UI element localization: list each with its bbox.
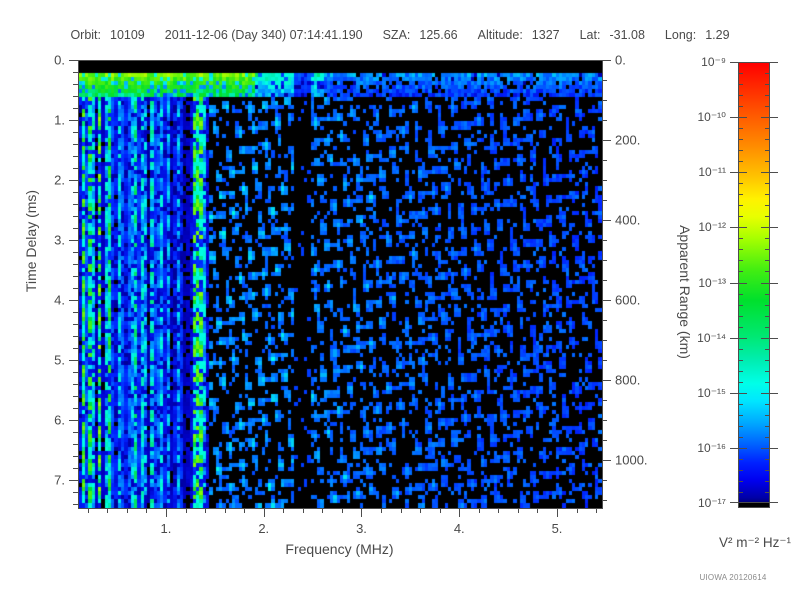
colorbar-tick-minor bbox=[765, 84, 770, 85]
colorbar-tick-minor bbox=[738, 437, 743, 438]
colorbar: 10⁻⁹10⁻¹⁰10⁻¹¹10⁻¹²10⁻¹³10⁻¹⁴10⁻¹⁵10⁻¹⁶1… bbox=[738, 62, 770, 508]
colorbar-tick-outer bbox=[730, 448, 738, 449]
y2-axis-tick-major bbox=[602, 380, 611, 381]
colorbar-tick-minor bbox=[738, 481, 743, 482]
y2-axis-tick-minor bbox=[602, 120, 607, 121]
header-sza-value: 125.66 bbox=[419, 28, 457, 42]
colorbar-tick-minor bbox=[738, 216, 743, 217]
y2-axis-tick-minor bbox=[602, 180, 607, 181]
y-axis-label: 7. bbox=[54, 473, 65, 488]
colorbar-tick-outer bbox=[770, 117, 778, 118]
colorbar-tick-minor bbox=[738, 492, 743, 493]
colorbar-tick-major bbox=[761, 62, 770, 63]
colorbar-tick-outer bbox=[770, 448, 778, 449]
colorbar-tick-minor bbox=[765, 260, 770, 261]
colorbar-tick-minor bbox=[738, 150, 743, 151]
x-axis-tick-minor bbox=[577, 508, 578, 513]
colorbar-tick-minor bbox=[765, 128, 770, 129]
x-axis-tick-major bbox=[264, 508, 265, 517]
x-axis-tick-minor bbox=[322, 508, 323, 513]
colorbar-tick-major bbox=[738, 117, 747, 118]
y-axis-left: 0.1.2.3.4.5.6.7. bbox=[0, 60, 78, 509]
y2-axis-tick-minor bbox=[602, 200, 607, 201]
plot-header: Orbit:101092011-12-06 (Day 340) 07:14:41… bbox=[0, 28, 800, 42]
colorbar-tick-outer bbox=[730, 117, 738, 118]
colorbar-tick-minor bbox=[738, 183, 743, 184]
colorbar-tick-label: 10⁻¹³ bbox=[698, 276, 726, 290]
colorbar-tick-minor bbox=[738, 260, 743, 261]
colorbar-tick-minor bbox=[738, 360, 743, 361]
colorbar-tick-minor bbox=[765, 382, 770, 383]
colorbar-tick-minor bbox=[765, 238, 770, 239]
colorbar-tick-minor bbox=[765, 316, 770, 317]
header-orbit-value: 10109 bbox=[110, 28, 145, 42]
colorbar-tick-outer bbox=[730, 62, 738, 63]
y2-axis-tick-minor bbox=[602, 80, 607, 81]
x-axis-tick-minor bbox=[518, 508, 519, 513]
y2-axis-tick-minor bbox=[602, 280, 607, 281]
colorbar-tick-major bbox=[738, 338, 747, 339]
colorbar-tick-major bbox=[761, 502, 770, 503]
colorbar-tick-minor bbox=[765, 216, 770, 217]
y-axis-tick-minor bbox=[73, 228, 78, 229]
x-axis-tick-minor bbox=[498, 508, 499, 513]
y2-axis-tick-major bbox=[602, 300, 611, 301]
header-long-value: 1.29 bbox=[705, 28, 729, 42]
header-lat-label: Lat: bbox=[580, 28, 601, 42]
colorbar-tick-major bbox=[761, 117, 770, 118]
x-axis-label: 3. bbox=[356, 521, 367, 536]
y-axis-label: 1. bbox=[54, 113, 65, 128]
y-axis-tick-minor bbox=[73, 372, 78, 373]
x-axis-label: 5. bbox=[552, 521, 563, 536]
colorbar-tick-minor bbox=[765, 205, 770, 206]
colorbar-tick-minor bbox=[738, 128, 743, 129]
y-axis-tick-minor bbox=[73, 192, 78, 193]
colorbar-tick-minor bbox=[765, 271, 770, 272]
colorbar-tick-major bbox=[738, 448, 747, 449]
colorbar-tick-minor bbox=[765, 426, 770, 427]
y-axis-right: 0.200.400.600.800.1000. bbox=[602, 60, 672, 509]
x-axis-label: 2. bbox=[258, 521, 269, 536]
y-axis-tick-major bbox=[69, 480, 78, 481]
y-axis-tick-minor bbox=[73, 468, 78, 469]
y2-axis-tick-minor bbox=[602, 440, 607, 441]
y-axis-tick-minor bbox=[73, 144, 78, 145]
header-lat-value: -31.08 bbox=[609, 28, 644, 42]
colorbar-tick-outer bbox=[730, 283, 738, 284]
y2-axis-label: 1000. bbox=[615, 453, 648, 468]
colorbar-tick-minor bbox=[738, 470, 743, 471]
colorbar-tick-outer bbox=[730, 172, 738, 173]
x-axis-label: 4. bbox=[454, 521, 465, 536]
colorbar-tick-minor bbox=[738, 106, 743, 107]
radargram-plot-area bbox=[78, 60, 603, 509]
colorbar-tick-major bbox=[761, 227, 770, 228]
y-axis-tick-minor bbox=[73, 432, 78, 433]
x-axis-label: 1. bbox=[161, 521, 172, 536]
y2-axis-tick-minor bbox=[602, 340, 607, 341]
y-axis-tick-minor bbox=[73, 492, 78, 493]
colorbar-tick-minor bbox=[765, 415, 770, 416]
colorbar-tick-major bbox=[761, 283, 770, 284]
y2-axis-tick-minor bbox=[602, 500, 607, 501]
y2-axis-tick-minor bbox=[602, 100, 607, 101]
y2-axis-tick-minor bbox=[602, 480, 607, 481]
colorbar-tick-outer bbox=[770, 393, 778, 394]
colorbar-tick-outer bbox=[730, 227, 738, 228]
colorbar-tick-minor bbox=[765, 73, 770, 74]
colorbar-tick-minor bbox=[738, 73, 743, 74]
colorbar-tick-minor bbox=[738, 238, 743, 239]
x-axis-tick-major bbox=[361, 508, 362, 517]
y2-axis-tick-major bbox=[602, 60, 611, 61]
colorbar-tick-minor bbox=[765, 95, 770, 96]
y-axis-tick-minor bbox=[73, 204, 78, 205]
colorbar-tick-label: 10⁻⁹ bbox=[701, 55, 726, 69]
colorbar-tick-minor bbox=[738, 139, 743, 140]
colorbar-tick-major bbox=[738, 502, 747, 503]
colorbar-tick-minor bbox=[738, 271, 743, 272]
x-axis-tick-minor bbox=[479, 508, 480, 513]
colorbar-tick-minor bbox=[738, 327, 743, 328]
x-axis-tick-major bbox=[459, 508, 460, 517]
y2-axis-tick-major bbox=[602, 460, 611, 461]
y-axis-tick-minor bbox=[73, 132, 78, 133]
colorbar-tick-outer bbox=[770, 338, 778, 339]
colorbar-tick-major bbox=[738, 172, 747, 173]
colorbar-tick-label: 10⁻¹⁵ bbox=[697, 386, 726, 400]
colorbar-tick-minor bbox=[765, 249, 770, 250]
y-axis-title-right: Apparent Range (km) bbox=[677, 192, 693, 392]
colorbar-tick-outer bbox=[770, 172, 778, 173]
x-axis-tick-minor bbox=[205, 508, 206, 513]
colorbar-tick-minor bbox=[738, 371, 743, 372]
colorbar-tick-minor bbox=[738, 382, 743, 383]
colorbar-tick-minor bbox=[765, 492, 770, 493]
colorbar-tick-minor bbox=[765, 194, 770, 195]
y-axis-tick-minor bbox=[73, 276, 78, 277]
y-axis-tick-major bbox=[69, 240, 78, 241]
x-axis-tick-minor bbox=[342, 508, 343, 513]
colorbar-tick-label: 10⁻¹² bbox=[698, 220, 726, 234]
y-axis-tick-minor bbox=[73, 384, 78, 385]
colorbar-tick-major bbox=[761, 172, 770, 173]
y2-axis-label: 200. bbox=[615, 133, 640, 148]
y-axis-tick-major bbox=[69, 180, 78, 181]
colorbar-tick-minor bbox=[765, 161, 770, 162]
colorbar-tick-minor bbox=[738, 95, 743, 96]
y-axis-tick-minor bbox=[73, 96, 78, 97]
colorbar-tick-outer bbox=[770, 502, 778, 503]
colorbar-tick-major bbox=[738, 393, 747, 394]
colorbar-tick-minor bbox=[765, 305, 770, 306]
colorbar-tick-minor bbox=[738, 404, 743, 405]
y-axis-label: 5. bbox=[54, 353, 65, 368]
colorbar-tick-minor bbox=[738, 194, 743, 195]
colorbar-tick-minor bbox=[765, 459, 770, 460]
y-axis-title-left: Time Delay (ms) bbox=[23, 141, 39, 341]
y2-axis-tick-minor bbox=[602, 160, 607, 161]
x-axis-tick-minor bbox=[303, 508, 304, 513]
x-axis-tick-minor bbox=[186, 508, 187, 513]
x-axis-title: Frequency (MHz) bbox=[78, 541, 601, 557]
colorbar-tick-label: 10⁻¹⁶ bbox=[697, 441, 726, 455]
colorbar-tick-label: 10⁻¹⁰ bbox=[698, 110, 727, 124]
colorbar-tick-outer bbox=[730, 502, 738, 503]
x-axis-tick-major bbox=[557, 508, 558, 517]
x-axis-tick-minor bbox=[244, 508, 245, 513]
colorbar-underflow-swatch bbox=[738, 503, 770, 508]
credit-text: UIOWA 20120614 bbox=[668, 573, 798, 582]
y2-axis-tick-minor bbox=[602, 360, 607, 361]
colorbar-tick-minor bbox=[738, 316, 743, 317]
y2-axis-label: 400. bbox=[615, 213, 640, 228]
x-axis-tick-minor bbox=[537, 508, 538, 513]
colorbar-tick-minor bbox=[765, 437, 770, 438]
y-axis-tick-minor bbox=[73, 252, 78, 253]
y-axis-label: 4. bbox=[54, 293, 65, 308]
x-axis-tick-minor bbox=[420, 508, 421, 513]
colorbar-tick-minor bbox=[765, 106, 770, 107]
y-axis-tick-minor bbox=[73, 288, 78, 289]
colorbar-tick-minor bbox=[738, 205, 743, 206]
colorbar-tick-minor bbox=[738, 415, 743, 416]
colorbar-tick-minor bbox=[738, 349, 743, 350]
colorbar-tick-minor bbox=[765, 139, 770, 140]
colorbar-tick-minor bbox=[765, 183, 770, 184]
y-axis-label: 0. bbox=[54, 53, 65, 68]
colorbar-tick-minor bbox=[765, 470, 770, 471]
y-axis-tick-minor bbox=[73, 168, 78, 169]
colorbar-tick-minor bbox=[765, 150, 770, 151]
colorbar-tick-minor bbox=[738, 84, 743, 85]
y2-axis-tick-minor bbox=[602, 420, 607, 421]
radargram-heatmap bbox=[79, 61, 602, 508]
colorbar-tick-minor bbox=[765, 294, 770, 295]
colorbar-tick-outer bbox=[770, 283, 778, 284]
colorbar-tick-major bbox=[738, 227, 747, 228]
x-axis-tick-minor bbox=[401, 508, 402, 513]
y2-axis-tick-major bbox=[602, 140, 611, 141]
colorbar-tick-minor bbox=[738, 249, 743, 250]
y-axis-tick-major bbox=[69, 120, 78, 121]
x-axis-tick-minor bbox=[440, 508, 441, 513]
colorbar-tick-minor bbox=[765, 481, 770, 482]
colorbar-tick-minor bbox=[765, 360, 770, 361]
colorbar-tick-minor bbox=[765, 404, 770, 405]
colorbar-tick-minor bbox=[765, 349, 770, 350]
x-axis-tick-minor bbox=[146, 508, 147, 513]
y-axis-tick-minor bbox=[73, 336, 78, 337]
y-axis-tick-minor bbox=[73, 396, 78, 397]
colorbar-tick-minor bbox=[738, 426, 743, 427]
header-altitude-label: Altitude: bbox=[478, 28, 523, 42]
y-axis-tick-major bbox=[69, 60, 78, 61]
y2-axis-label: 800. bbox=[615, 373, 640, 388]
y-axis-tick-minor bbox=[73, 324, 78, 325]
colorbar-tick-outer bbox=[730, 393, 738, 394]
colorbar-tick-minor bbox=[765, 327, 770, 328]
y-axis-label: 6. bbox=[54, 413, 65, 428]
x-axis-tick-major bbox=[166, 508, 167, 517]
colorbar-tick-major bbox=[738, 62, 747, 63]
colorbar-tick-major bbox=[761, 338, 770, 339]
y-axis-tick-minor bbox=[73, 216, 78, 217]
y-axis-tick-minor bbox=[73, 312, 78, 313]
y-axis-tick-minor bbox=[73, 156, 78, 157]
y2-axis-label: 0. bbox=[615, 53, 626, 68]
colorbar-tick-outer bbox=[770, 227, 778, 228]
y-axis-tick-major bbox=[69, 360, 78, 361]
y-axis-tick-major bbox=[69, 420, 78, 421]
y-axis-tick-major bbox=[69, 300, 78, 301]
colorbar-tick-minor bbox=[738, 294, 743, 295]
header-sza-label: SZA: bbox=[383, 28, 411, 42]
x-axis-tick-minor bbox=[88, 508, 89, 513]
y-axis-tick-minor bbox=[73, 348, 78, 349]
y-axis-label: 2. bbox=[54, 173, 65, 188]
y-axis-tick-minor bbox=[73, 504, 78, 505]
y2-axis-tick-minor bbox=[602, 320, 607, 321]
x-axis-tick-minor bbox=[225, 508, 226, 513]
x-axis-tick-minor bbox=[127, 508, 128, 513]
colorbar-tick-minor bbox=[738, 161, 743, 162]
colorbar-tick-outer bbox=[730, 338, 738, 339]
y-axis-tick-minor bbox=[73, 84, 78, 85]
colorbar-tick-label: 10⁻¹¹ bbox=[698, 165, 726, 179]
y2-axis-tick-minor bbox=[602, 240, 607, 241]
colorbar-tick-outer bbox=[770, 62, 778, 63]
colorbar-tick-label: 10⁻¹⁷ bbox=[698, 496, 726, 510]
colorbar-tick-label: 10⁻¹⁴ bbox=[697, 331, 726, 345]
y2-axis-tick-major bbox=[602, 220, 611, 221]
x-axis-tick-minor bbox=[107, 508, 108, 513]
y-axis-tick-minor bbox=[73, 264, 78, 265]
header-orbit-label: Orbit: bbox=[70, 28, 101, 42]
x-axis-tick-minor bbox=[596, 508, 597, 513]
colorbar-tick-minor bbox=[738, 305, 743, 306]
y2-axis-label: 600. bbox=[615, 293, 640, 308]
colorbar-tick-minor bbox=[765, 371, 770, 372]
header-datetime: 2011-12-06 (Day 340) 07:14:41.190 bbox=[165, 28, 363, 42]
colorbar-tick-major bbox=[761, 393, 770, 394]
y-axis-tick-minor bbox=[73, 72, 78, 73]
y2-axis-tick-minor bbox=[602, 260, 607, 261]
y2-axis-tick-minor bbox=[602, 400, 607, 401]
y-axis-tick-minor bbox=[73, 456, 78, 457]
y-axis-tick-minor bbox=[73, 408, 78, 409]
colorbar-tick-minor bbox=[738, 459, 743, 460]
y-axis-tick-minor bbox=[73, 444, 78, 445]
y-axis-tick-minor bbox=[73, 108, 78, 109]
x-axis-tick-minor bbox=[283, 508, 284, 513]
colorbar-units-label: V² m⁻² Hz⁻¹ bbox=[665, 535, 800, 551]
header-long-label: Long: bbox=[665, 28, 696, 42]
colorbar-tick-major bbox=[738, 283, 747, 284]
colorbar-tick-major bbox=[761, 448, 770, 449]
header-altitude-value: 1327 bbox=[532, 28, 560, 42]
y-axis-label: 3. bbox=[54, 233, 65, 248]
x-axis-tick-minor bbox=[381, 508, 382, 513]
